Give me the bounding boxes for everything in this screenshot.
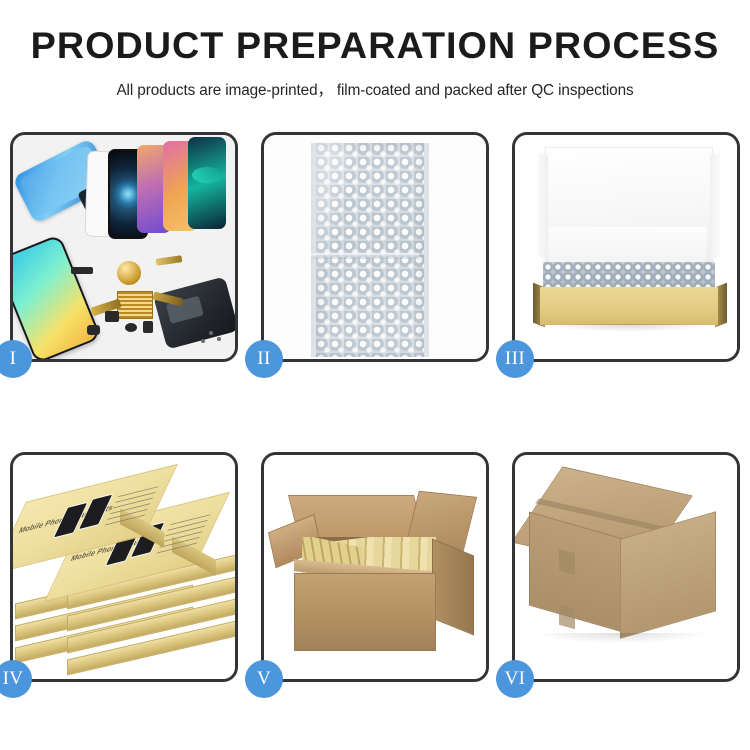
sealed-carton-illustration xyxy=(515,455,737,679)
gold-coil-part-icon xyxy=(117,261,141,285)
carton-front-panel-icon xyxy=(294,573,436,651)
stacked-boxes-illustration: Mobile Phone Spare Parts Mobile Phone Sp… xyxy=(13,455,235,679)
flex-cable-part-icon xyxy=(156,255,183,266)
box-shadow xyxy=(545,324,713,332)
connector-grid-part-icon xyxy=(117,291,153,319)
step-badge-2: II xyxy=(245,340,283,378)
step-3-image xyxy=(515,135,737,359)
button-part-icon xyxy=(87,325,100,335)
bubble-wrap-illustration xyxy=(264,135,486,359)
bubble-wrap-sheet-icon xyxy=(311,143,429,357)
screw-icon xyxy=(209,331,213,335)
packing-tape-icon xyxy=(559,605,575,630)
process-steps-grid: I II III xyxy=(10,132,740,682)
chip-part-icon xyxy=(71,267,93,274)
step-badge-3: III xyxy=(496,340,534,378)
carton-shadow xyxy=(535,633,707,643)
screw-icon xyxy=(201,339,205,343)
step-badge-4: IV xyxy=(0,660,32,698)
process-step-card-5[interactable]: V xyxy=(261,452,489,682)
step-badge-5: V xyxy=(245,660,283,698)
speaker-part-icon xyxy=(125,323,137,332)
phone-back-housing-icon xyxy=(153,276,235,349)
page-subtitle: All products are image-printed， film-coa… xyxy=(0,78,750,100)
packing-tape-icon xyxy=(559,549,575,576)
step-6-image xyxy=(515,455,737,679)
step-badge-1: I xyxy=(0,340,32,378)
camera-part-icon xyxy=(143,321,153,333)
step-5-image xyxy=(264,455,486,679)
page-title: PRODUCT PREPARATION PROCESS xyxy=(0,27,750,66)
page-header: PRODUCT PREPARATION PROCESS All products… xyxy=(0,0,750,100)
process-step-card-6[interactable]: VI xyxy=(512,452,740,682)
large-phone-icon xyxy=(13,234,101,359)
bubble-wrap-seam-icon xyxy=(311,253,419,259)
inner-box-illustration xyxy=(515,135,737,359)
step-4-image: Mobile Phone Spare Parts Mobile Phone Sp… xyxy=(13,455,235,679)
process-step-card-2[interactable]: II xyxy=(261,132,489,362)
open-carton-illustration xyxy=(264,455,486,679)
teal-phone-icon xyxy=(188,137,226,229)
step-2-image xyxy=(264,135,486,359)
process-step-card-3[interactable]: III xyxy=(512,132,740,362)
step-1-image xyxy=(13,135,235,359)
screw-icon xyxy=(217,337,221,341)
phones-and-parts-illustration xyxy=(13,135,235,359)
process-step-card-4[interactable]: Mobile Phone Spare Parts Mobile Phone Sp… xyxy=(10,452,238,682)
step-badge-6: VI xyxy=(496,660,534,698)
process-step-card-1[interactable]: I xyxy=(10,132,238,362)
carton-side-panel-icon xyxy=(432,539,474,636)
box-front-panel-icon xyxy=(540,287,718,325)
chip-part-icon xyxy=(105,311,119,322)
